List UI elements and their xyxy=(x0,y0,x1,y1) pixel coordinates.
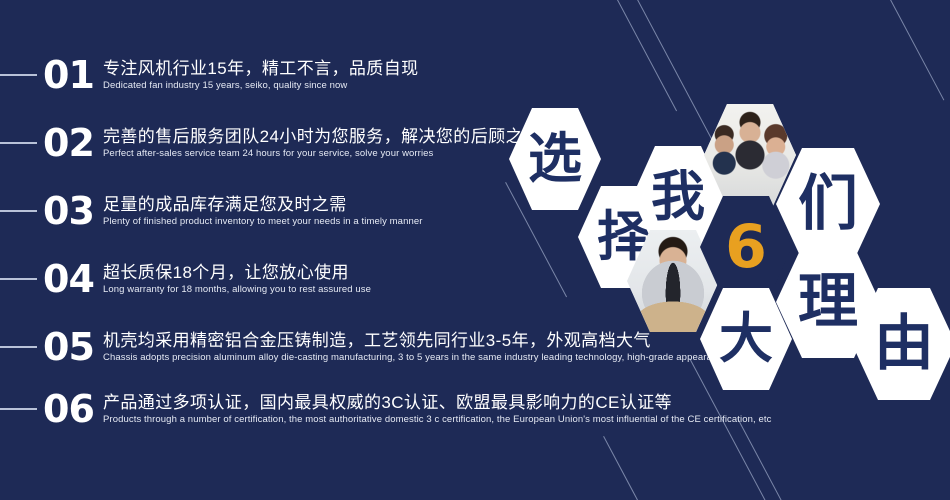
hex-glyph: 们 xyxy=(798,174,858,234)
banner-canvas: 01 专注风机行业15年，精工不言，品质自现 Dedicated fan ind… xyxy=(0,0,950,500)
hex-glyph: 选 xyxy=(528,132,582,186)
hex-glyph: 理 xyxy=(798,272,858,332)
hex-glyph-accent: 6 xyxy=(725,217,767,277)
hex-glyph: 我 xyxy=(651,170,705,224)
hex-cell-xuan: 选 xyxy=(509,108,601,210)
headline-hex-cluster: 选 择 我 们 6 理 大 由 xyxy=(0,0,950,500)
hex-glyph: 由 xyxy=(874,314,934,374)
hex-glyph: 大 xyxy=(719,312,773,366)
hex-cell-men: 们 xyxy=(776,148,880,260)
